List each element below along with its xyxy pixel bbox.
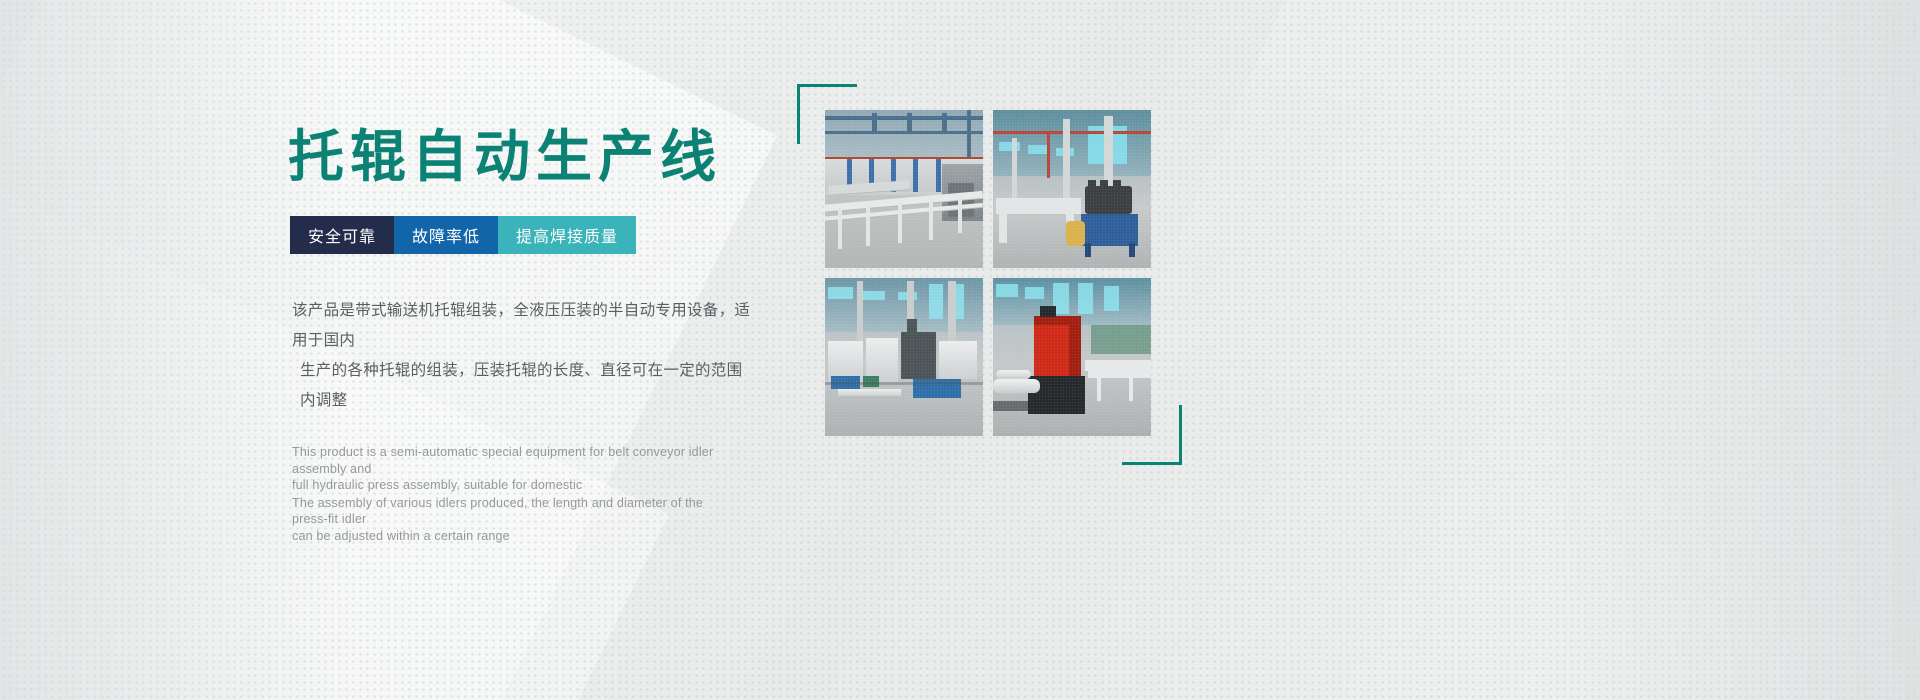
feature-tag-low-fault[interactable]: 故障率低 <box>394 216 498 254</box>
feature-tag-weld-quality[interactable]: 提高焊接质量 <box>498 216 636 254</box>
description-en-line-3: The assembly of various idlers produced,… <box>292 495 732 528</box>
description-english: This product is a semi-automatic special… <box>292 444 732 544</box>
description-chinese: 该产品是带式输送机托辊组装，全液压压装的半自动专用设备，适用于国内 生产的各种托… <box>292 296 752 416</box>
page-title: 托辊自动生产线 <box>288 128 758 186</box>
feature-tag-safe[interactable]: 安全可靠 <box>290 216 394 254</box>
banner-copy-block: 托辊自动生产线 安全可靠 故障率低 提高焊接质量 该产品是带式输送机托辊组装，全… <box>288 128 758 544</box>
gallery-photo-4[interactable] <box>993 278 1151 436</box>
conveyor-line-photo <box>825 110 983 268</box>
gallery-photo-3[interactable] <box>825 278 983 436</box>
product-photo-gallery <box>825 110 1151 436</box>
description-cn-line-1: 该产品是带式输送机托辊组装，全液压压装的半自动专用设备，适用于国内 <box>292 302 750 349</box>
gallery-photo-2[interactable] <box>993 110 1151 268</box>
bracket-line-horizontal <box>797 84 857 87</box>
description-en-line-4: can be adjusted within a certain range <box>292 528 732 545</box>
workshop-interior-photo <box>993 110 1151 268</box>
description-en-line-2: full hydraulic press assembly, suitable … <box>292 477 732 494</box>
red-press-machine-photo <box>993 278 1151 436</box>
description-en-line-1: This product is a semi-automatic special… <box>292 444 732 477</box>
machine-row-photo <box>825 278 983 436</box>
product-banner: 托辊自动生产线 安全可靠 故障率低 提高焊接质量 该产品是带式输送机托辊组装，全… <box>0 0 1920 700</box>
description-cn-line-2: 生产的各种托辊的组装，压装托辊的长度、直径可在一定的范围内调整 <box>300 356 752 416</box>
gallery-photo-1[interactable] <box>825 110 983 268</box>
bracket-line-vertical <box>797 84 800 144</box>
bracket-line-vertical <box>1179 405 1182 465</box>
feature-tag-row: 安全可靠 故障率低 提高焊接质量 <box>290 216 758 254</box>
bracket-line-horizontal <box>1122 462 1182 465</box>
